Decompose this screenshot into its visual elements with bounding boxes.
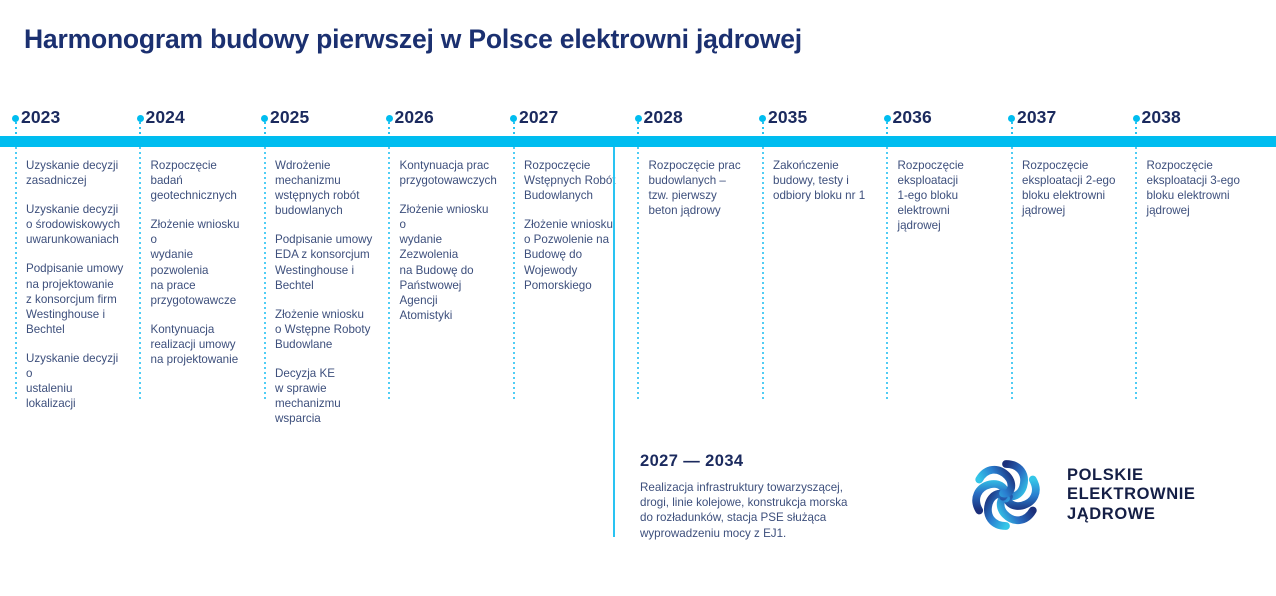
year-label: 2037 — [1017, 107, 1056, 128]
year-marker-dot — [386, 115, 393, 122]
column-divider-dotted — [1011, 147, 1013, 402]
column-divider-dotted — [762, 147, 764, 402]
year-marker-dot — [1133, 115, 1140, 122]
milestone-item: Podpisanie umowy EDA z konsorcjum Westin… — [275, 232, 373, 292]
timeline-column-2027: 2027Rozpoczęcie Wstępnych Robót Budowlan… — [500, 0, 624, 596]
milestone-item: Rozpoczęcie eksploatacji 2-ego bloku ele… — [1022, 158, 1120, 218]
timeline-column-2023: 2023Uzyskanie decyzji zasadniczejUzyskan… — [2, 0, 126, 596]
milestone-item: Uzyskanie decyzji o ustaleniu lokalizacj… — [26, 351, 124, 411]
milestone-item: Złożenie wniosku o wydanie pozwolenia na… — [151, 217, 249, 308]
pinwheel-icon — [963, 452, 1049, 538]
milestone-item: Rozpoczęcie eksploatacji 3-ego bloku ele… — [1147, 158, 1245, 218]
column-guide-top — [637, 122, 639, 136]
phase-block: 2027 — 2034 Realizacja infrastruktury to… — [640, 452, 880, 541]
milestone-item: Uzyskanie decyzji zasadniczej — [26, 158, 124, 188]
column-items: Rozpoczęcie eksploatacji 3-ego bloku ele… — [1147, 158, 1245, 218]
timeline-column-2024: 2024Rozpoczęcie badań geotechnicznychZło… — [127, 0, 251, 596]
column-divider-dotted — [139, 147, 141, 402]
column-items: Rozpoczęcie eksploatacji 1-ego bloku ele… — [898, 158, 996, 233]
year-marker-dot — [884, 115, 891, 122]
milestone-item: Złożenie wniosku o wydanie Zezwolenia na… — [400, 202, 498, 323]
timeline-column-2026: 2026Kontynuacja prac przygotowawczychZło… — [376, 0, 500, 596]
milestone-item: Decyzja KE w sprawie mechanizmu wsparcia — [275, 366, 373, 426]
phase-description: Realizacja infrastruktury towarzyszącej,… — [640, 480, 880, 541]
year-marker-dot — [759, 115, 766, 122]
year-marker-dot — [635, 115, 642, 122]
column-items: Wdrożenie mechanizmu wstępnych robót bud… — [275, 158, 373, 426]
column-items: Rozpoczęcie prac budowlanych – tzw. pier… — [649, 158, 747, 218]
milestone-item: Zakończenie budowy, testy i odbiory blok… — [773, 158, 871, 203]
milestone-item: Rozpoczęcie prac budowlanych – tzw. pier… — [649, 158, 747, 218]
column-guide-top — [15, 122, 17, 136]
milestone-item: Uzyskanie decyzji o środowiskowych uwaru… — [26, 202, 124, 247]
column-divider-dotted — [1135, 147, 1137, 402]
milestone-item: Złożenie wniosku o Wstępne Roboty Budowl… — [275, 307, 373, 352]
year-label: 2035 — [768, 107, 807, 128]
column-divider-dotted — [264, 147, 266, 402]
milestone-item: Wdrożenie mechanizmu wstępnych robót bud… — [275, 158, 373, 218]
phase-range-label: 2027 — 2034 — [640, 452, 880, 471]
year-label: 2024 — [146, 107, 185, 128]
milestone-item: Kontynuacja realizacji umowy na projekto… — [151, 322, 249, 367]
column-guide-top — [762, 122, 764, 136]
column-divider-solid — [613, 147, 615, 537]
column-guide-top — [264, 122, 266, 136]
column-items: Kontynuacja prac przygotowawczychZłożeni… — [400, 158, 498, 323]
column-items: Rozpoczęcie Wstępnych Robót BudowlanychZ… — [524, 158, 622, 293]
column-divider-dotted — [513, 147, 515, 402]
column-guide-top — [388, 122, 390, 136]
year-marker-dot — [12, 115, 19, 122]
milestone-item: Rozpoczęcie badań geotechnicznych — [151, 158, 249, 203]
year-label: 2036 — [893, 107, 932, 128]
column-items: Uzyskanie decyzji zasadniczejUzyskanie d… — [26, 158, 124, 411]
year-label: 2026 — [395, 107, 434, 128]
year-marker-dot — [137, 115, 144, 122]
column-divider-dotted — [886, 147, 888, 402]
column-items: Rozpoczęcie eksploatacji 2-ego bloku ele… — [1022, 158, 1120, 218]
milestone-item: Rozpoczęcie eksploatacji 1-ego bloku ele… — [898, 158, 996, 233]
column-guide-top — [1135, 122, 1137, 136]
column-divider-dotted — [637, 147, 639, 402]
logo-wordmark: POLSKIE ELEKTROWNIE JĄDROWE — [1067, 466, 1196, 525]
timeline-column-2025: 2025Wdrożenie mechanizmu wstępnych robót… — [251, 0, 375, 596]
milestone-item: Rozpoczęcie Wstępnych Robót Budowlanych — [524, 158, 622, 203]
column-items: Rozpoczęcie badań geotechnicznychZłożeni… — [151, 158, 249, 367]
column-guide-top — [139, 122, 141, 136]
year-marker-dot — [1008, 115, 1015, 122]
year-marker-dot — [510, 115, 517, 122]
milestone-item: Złożenie wniosku o Pozwolenie na Budowę … — [524, 217, 622, 292]
column-guide-top — [1011, 122, 1013, 136]
year-marker-dot — [261, 115, 268, 122]
logo: POLSKIE ELEKTROWNIE JĄDROWE — [963, 449, 1253, 541]
column-guide-top — [886, 122, 888, 136]
year-label: 2025 — [270, 107, 309, 128]
milestone-item: Podpisanie umowy na projektowanie z kons… — [26, 261, 124, 336]
milestone-item: Kontynuacja prac przygotowawczych — [400, 158, 498, 188]
column-divider-dotted — [388, 147, 390, 402]
column-divider-dotted — [15, 147, 17, 402]
year-label: 2028 — [644, 107, 683, 128]
column-items: Zakończenie budowy, testy i odbiory blok… — [773, 158, 871, 203]
year-label: 2038 — [1142, 107, 1181, 128]
infographic-page: Harmonogram budowy pierwszej w Polsce el… — [0, 0, 1276, 596]
column-guide-top — [513, 122, 515, 136]
year-label: 2023 — [21, 107, 60, 128]
year-label: 2027 — [519, 107, 558, 128]
